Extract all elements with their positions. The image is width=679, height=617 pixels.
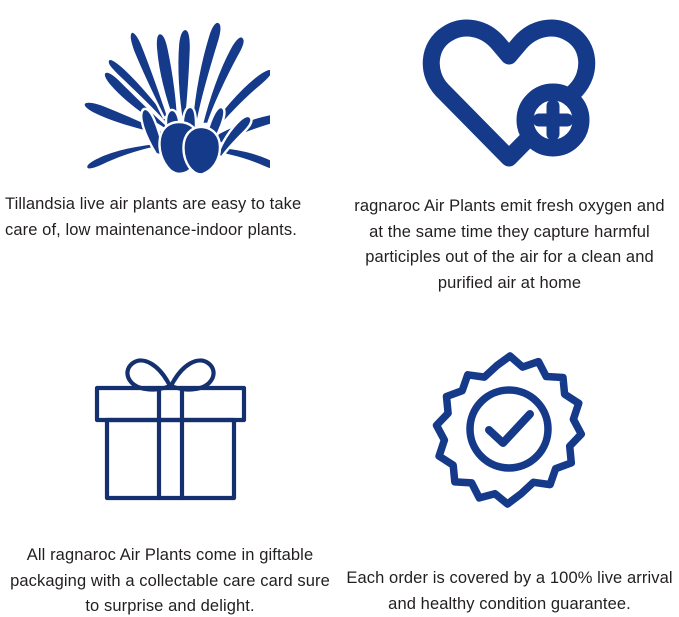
verified-badge-icon	[430, 348, 590, 508]
feature-text-gift-box: All ragnaroc Air Plants come in giftable…	[0, 543, 340, 617]
gift-box-icon	[83, 348, 258, 508]
bow-left-loop	[127, 361, 170, 390]
badge-starburst	[436, 356, 581, 504]
feature-cell-heart-plus: ragnaroc Air Plants emit fresh oxygen an…	[340, 0, 679, 308]
gift-body	[107, 420, 234, 498]
air-plant-icon	[70, 8, 270, 176]
heart-plus-icon	[422, 10, 597, 178]
feature-cell-gift-box: All ragnaroc Air Plants come in giftable…	[0, 308, 340, 617]
feature-text-air-plant: Tillandsia live air plants are easy to t…	[0, 192, 340, 243]
feature-text-heart-plus: ragnaroc Air Plants emit fresh oxygen an…	[340, 194, 679, 296]
badge-circle	[470, 390, 548, 468]
feature-cell-verified-badge: Each order is covered by a 100% live arr…	[340, 308, 679, 617]
feature-text-verified-badge: Each order is covered by a 100% live arr…	[340, 566, 679, 617]
feature-cell-air-plant: Tillandsia live air plants are easy to t…	[0, 0, 340, 308]
gift-lid	[97, 388, 244, 420]
check-icon	[489, 414, 530, 443]
bow-right-loop	[171, 361, 214, 390]
feature-grid: Tillandsia live air plants are easy to t…	[0, 0, 679, 617]
